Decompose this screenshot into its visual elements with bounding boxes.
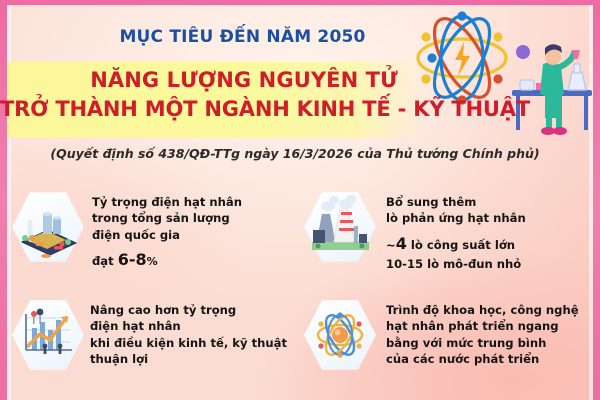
goal-stat: đạt 6-8% bbox=[92, 249, 296, 272]
goal-stat: ~4 lò công suất lớn bbox=[386, 233, 588, 256]
stat-prefix: đạt bbox=[92, 254, 118, 268]
atom-nucleus-icon bbox=[304, 298, 376, 372]
goal-text: Trình độ khoa học, công nghệ hạt nhân ph… bbox=[382, 296, 588, 368]
atom-electron bbox=[457, 11, 466, 20]
headline-line-1: NĂNG LƯỢNG NGUYÊN TỬ bbox=[0, 66, 488, 95]
goal-text: Nâng cao hơn tỷ trọng điện hạt nhân khi … bbox=[90, 296, 296, 368]
goal-line: Bổ sung thêm bbox=[386, 194, 588, 210]
cooling-tower-illustration bbox=[304, 190, 376, 264]
stat-suffix: lò công suất lớn bbox=[407, 238, 515, 252]
border-left bbox=[0, 0, 7, 400]
goal-line: trong tổng sản lượng bbox=[92, 210, 296, 226]
goal-line: điện quốc gia bbox=[92, 227, 296, 243]
stat-unit: % bbox=[147, 255, 158, 268]
cooling-tower-icon bbox=[304, 190, 376, 264]
nuclear-power-plant-isometric-icon bbox=[12, 190, 84, 264]
goal-line: Trình độ khoa học, công nghệ bbox=[386, 302, 588, 318]
goal-line: lò phản ứng hạt nhân bbox=[386, 210, 588, 226]
atom-nucleus-illustration bbox=[304, 298, 376, 372]
goal-stat-line-2: 10-15 lò mô-đun nhỏ bbox=[386, 256, 588, 272]
border-top bbox=[0, 0, 600, 5]
goal-line: của các nước phát triển bbox=[386, 351, 588, 367]
stat-value: 6-8 bbox=[118, 250, 147, 269]
goal-line: điện hạt nhân bbox=[90, 318, 296, 334]
power-plant-illustration bbox=[12, 190, 84, 264]
page-title: NĂNG LƯỢNG NGUYÊN TỬ TRỞ THÀNH MỘT NGÀNH… bbox=[0, 66, 600, 124]
decision-reference: (Quyết định số 438/QĐ-TTg ngày 16/3/2026… bbox=[0, 146, 600, 161]
goal-line: bằng với mức trung bình bbox=[386, 335, 588, 351]
stat-prefix: ~ bbox=[386, 238, 396, 252]
goal-text: Tỷ trọng điện hạt nhân trong tổng sản lư… bbox=[90, 188, 296, 272]
goal-line: Tỷ trọng điện hạt nhân bbox=[92, 194, 296, 210]
goals-grid: Tỷ trọng điện hạt nhân trong tổng sản lư… bbox=[8, 182, 592, 398]
atom-electron bbox=[427, 53, 436, 62]
decor-dot bbox=[516, 45, 530, 59]
infographic-poster: MỤC TIÊU ĐẾN NĂM 2050 NĂNG LƯỢNG NGUYÊN … bbox=[0, 0, 600, 400]
goal-line: thuận lợi bbox=[90, 351, 296, 367]
growth-chart-icon bbox=[12, 298, 84, 372]
goal-line: khi điều kiện kinh tế, kỹ thuật bbox=[90, 335, 296, 351]
kicker-title: MỤC TIÊU ĐẾN NĂM 2050 bbox=[0, 27, 600, 47]
headline-line-2: TRỞ THÀNH MỘT NGÀNH KINH TẾ - KỸ THUẬT bbox=[0, 95, 488, 124]
goal-line: Nâng cao hơn tỷ trọng bbox=[90, 302, 296, 318]
goal-item: Nâng cao hơn tỷ trọng điện hạt nhân khi … bbox=[8, 290, 300, 398]
goal-item: Trình độ khoa học, công nghệ hạt nhân ph… bbox=[300, 290, 592, 398]
goal-item: Tỷ trọng điện hạt nhân trong tổng sản lư… bbox=[8, 182, 300, 290]
goal-line: hạt nhân phát triển ngang bbox=[386, 318, 588, 334]
goal-item: Bổ sung thêm lò phản ứng hạt nhân ~4 lò … bbox=[300, 182, 592, 290]
stat-value: 4 bbox=[396, 234, 407, 253]
goal-text: Bổ sung thêm lò phản ứng hạt nhân ~4 lò … bbox=[382, 188, 588, 272]
growth-chart-illustration bbox=[12, 298, 84, 372]
